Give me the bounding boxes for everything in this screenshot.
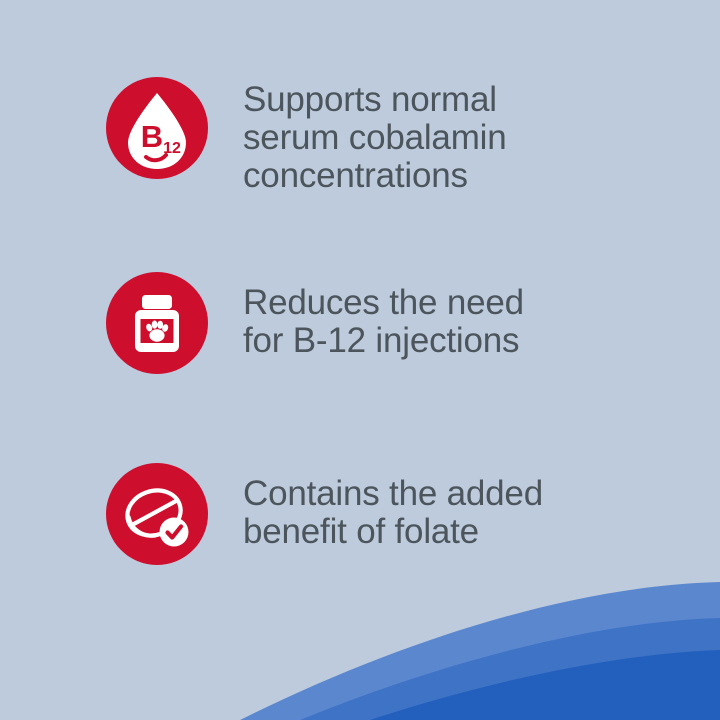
feature-row: Contains the added benefit of folate	[106, 463, 543, 565]
blood-drop-b12-icon: B 12	[106, 77, 208, 179]
feature-row: B 12 Supports normal serum cobalamin con…	[106, 77, 507, 195]
infographic-canvas: B 12 Supports normal serum cobalamin con…	[0, 0, 720, 720]
feature-text: Supports normal serum cobalamin concentr…	[243, 77, 507, 195]
pill-bottle-paw-icon	[106, 272, 208, 374]
feature-text: Contains the added benefit of folate	[243, 463, 543, 551]
tablet-checkmark-icon	[106, 463, 208, 565]
wave-band-dark	[370, 650, 720, 720]
feature-row: Reduces the need for B-12 injections	[106, 272, 524, 374]
wave-band-light	[240, 582, 720, 720]
feature-text: Reduces the need for B-12 injections	[243, 272, 524, 360]
wave-band-mid	[300, 618, 720, 720]
blood-drop-letter: B	[141, 119, 163, 154]
